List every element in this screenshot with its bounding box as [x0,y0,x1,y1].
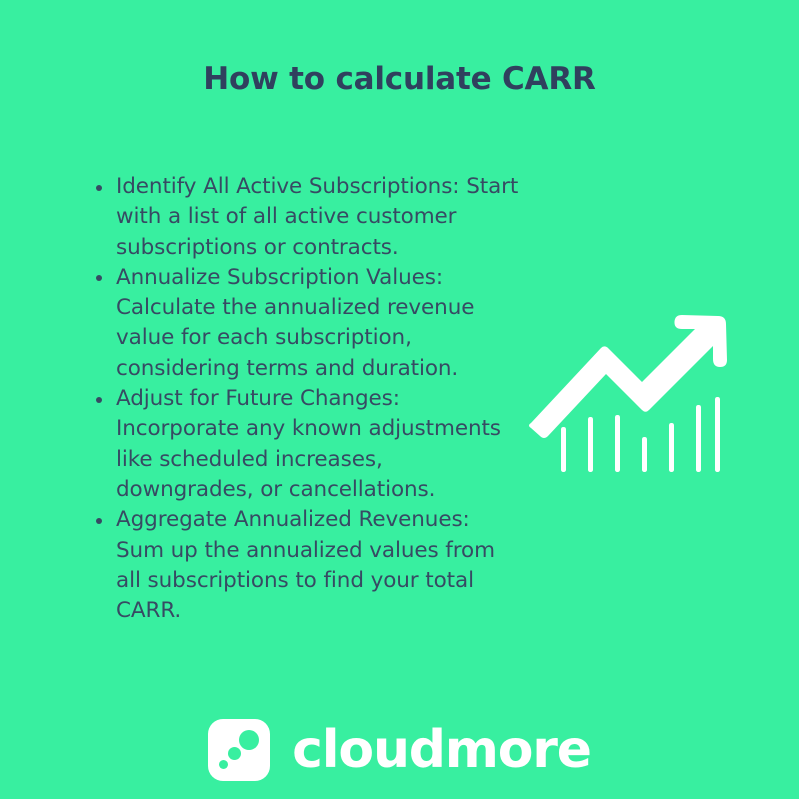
list-item-text: Adjust for Future Changes: Incorporate a… [116,386,501,502]
brand-wordmark: cloudmore [292,722,591,778]
page-title: How to calculate CARR [0,58,799,100]
brand-logo: cloudmore [0,719,799,781]
list-item: Annualize Subscription Values: Calculate… [92,263,522,384]
list-item-text: Identify All Active Subscriptions: Start… [116,174,518,260]
logo-dot-large-icon [239,730,259,750]
list-item: Identify All Active Subscriptions: Start… [92,172,522,263]
bullet-dot-icon [96,275,102,281]
logo-dot-small-icon [219,760,228,769]
bullet-dot-icon [96,518,102,524]
logo-dot-medium-icon [228,747,241,760]
bullet-dot-icon [96,185,102,191]
list-item: Aggregate Annualized Revenues: Sum up th… [92,505,522,626]
growth-arrow-chart-icon [522,312,732,487]
steps-list: Identify All Active Subscriptions: Start… [92,172,522,626]
bullet-dot-icon [96,397,102,403]
list-item-text: Annualize Subscription Values: Calculate… [116,265,474,381]
list-item-text: Aggregate Annualized Revenues: Sum up th… [116,507,495,623]
list-item: Adjust for Future Changes: Incorporate a… [92,384,522,505]
slide-canvas: How to calculate CARR Identify All Activ… [0,0,799,799]
cloudmore-logo-mark-icon [208,719,270,781]
